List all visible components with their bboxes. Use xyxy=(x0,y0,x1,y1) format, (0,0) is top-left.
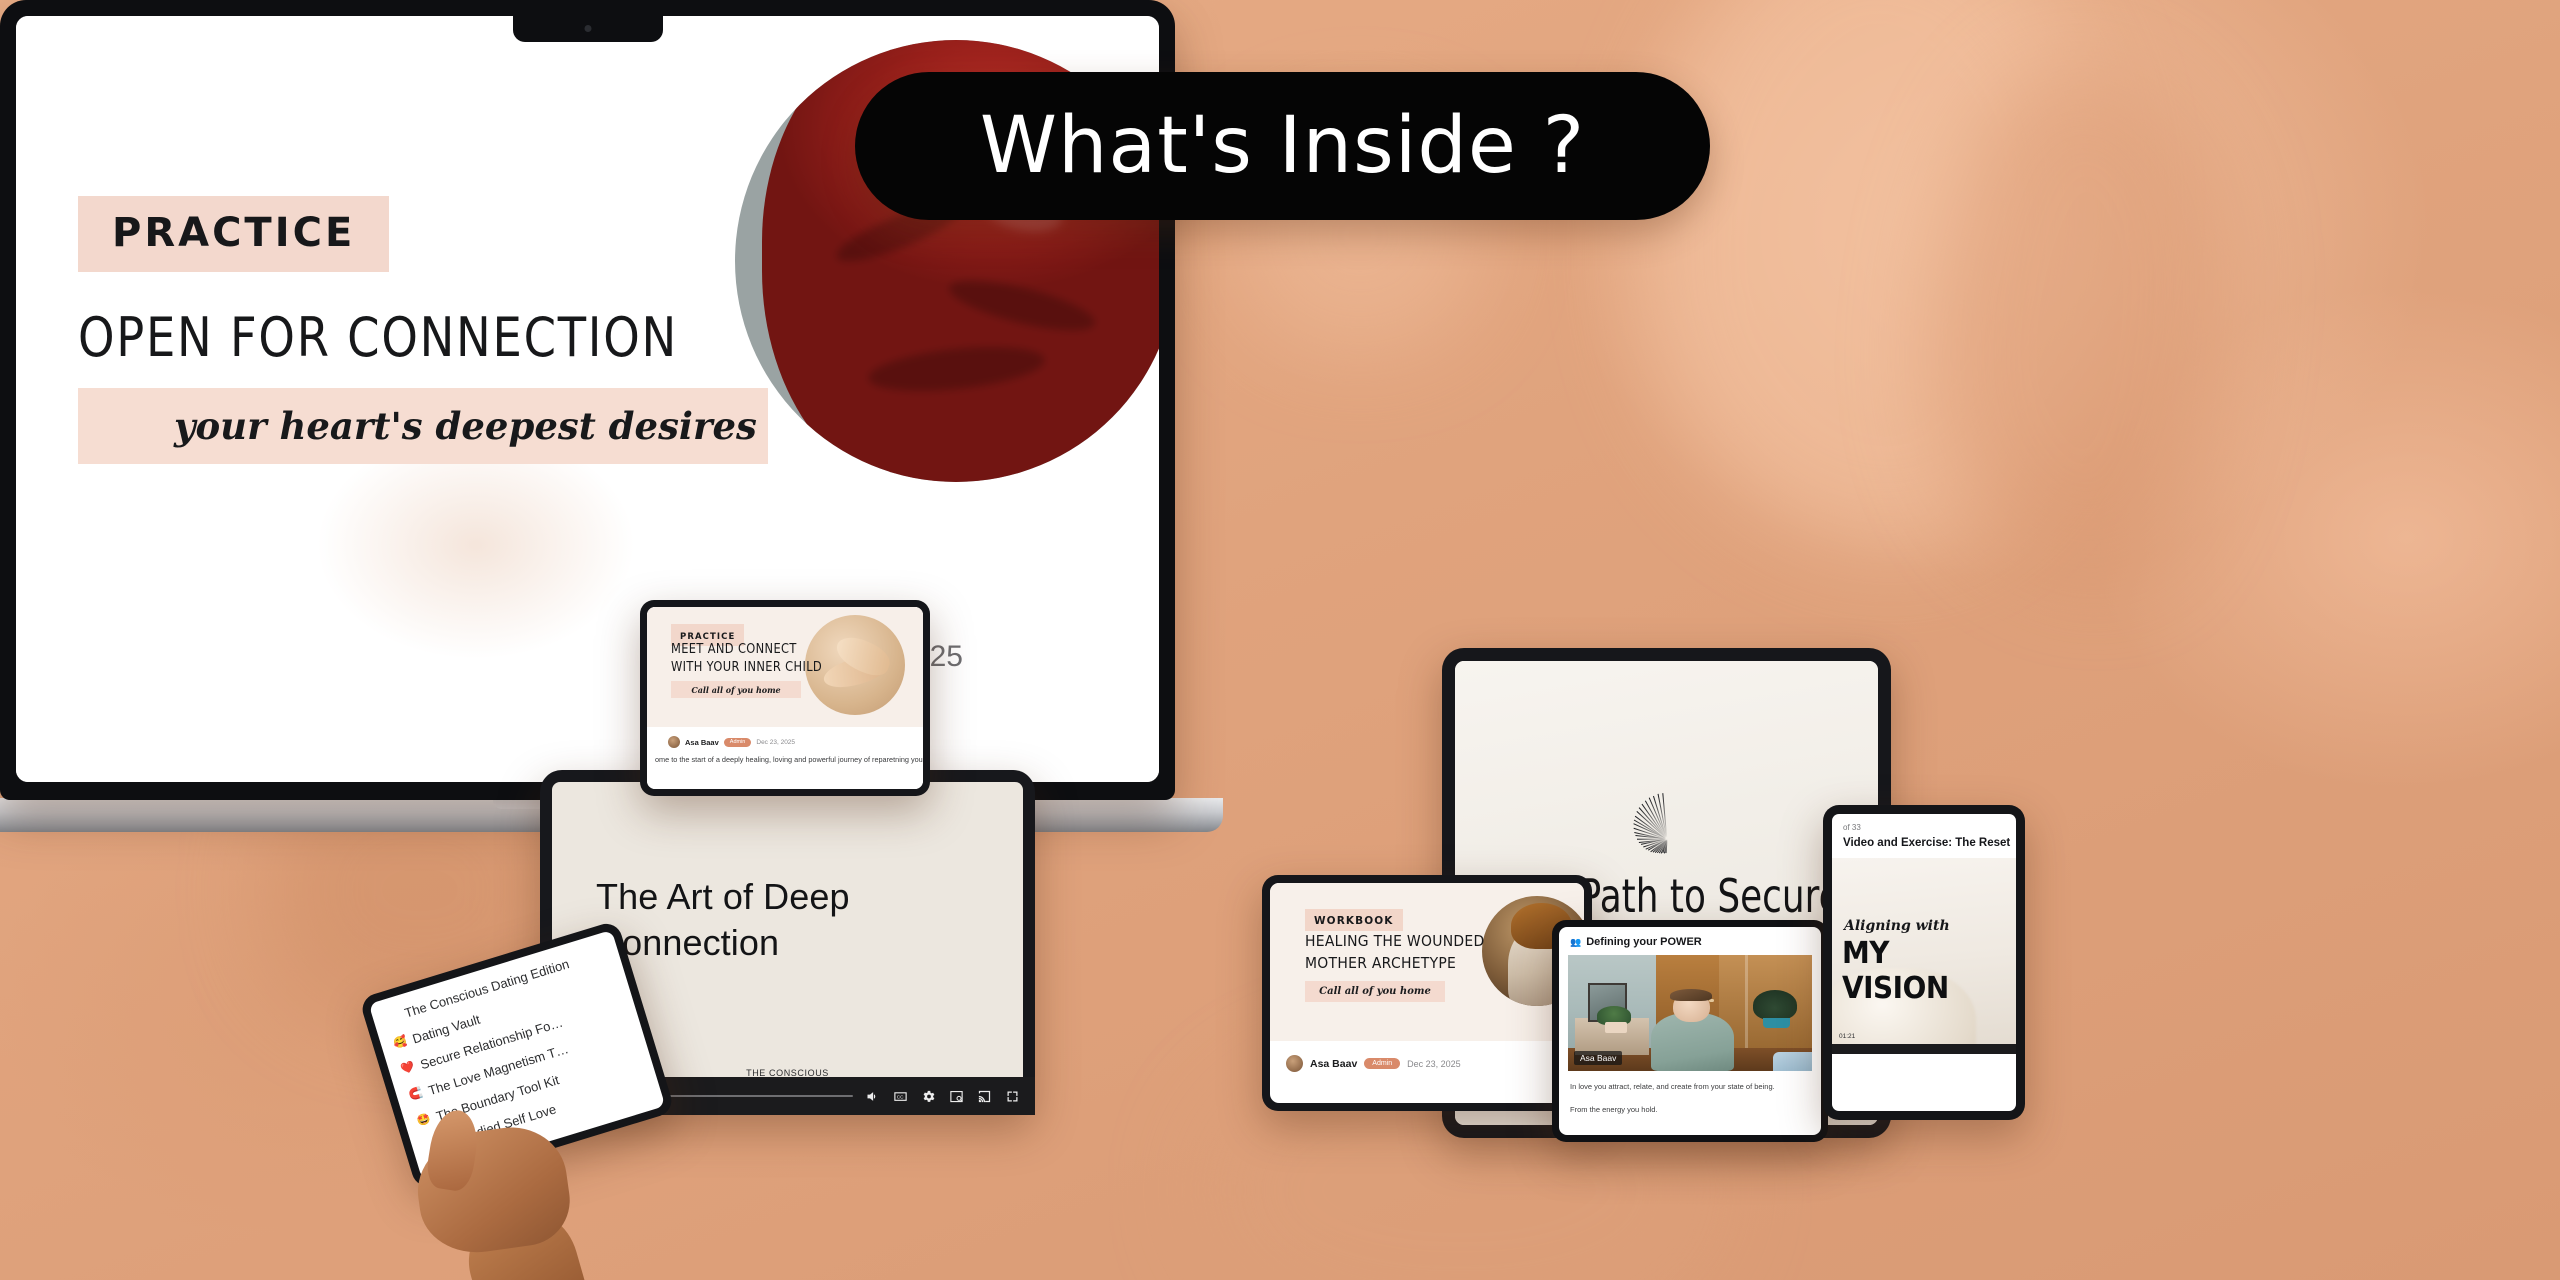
webcam-notch xyxy=(513,16,663,42)
reset-title: Video and Exercise: The Reset xyxy=(1843,837,2016,849)
status-badge: Admin xyxy=(724,738,752,747)
video-timestamp: 01:21 xyxy=(1839,1033,1855,1040)
fern xyxy=(1753,990,1797,1020)
speaker-hair xyxy=(1670,989,1711,1002)
lesson-body-line1: In love you attract, relate, and create … xyxy=(1559,1071,1821,1094)
sunburst-icon xyxy=(1624,789,1710,839)
tablet-workbook-post: WORKBOOK HEALING THE WOUNDED MOTHER ARCH… xyxy=(1262,875,1592,1111)
reset-header: of 33 Video and Exercise: The Reset xyxy=(1832,814,2016,849)
cast-icon[interactable] xyxy=(976,1089,993,1104)
post-band-label: Call all of you home xyxy=(691,685,780,695)
workbook-hero: WORKBOOK HEALING THE WOUNDED MOTHER ARCH… xyxy=(1270,883,1584,1041)
speaker-name-label: Asa Baav xyxy=(1574,1051,1622,1065)
post-heading-line2: WITH YOUR INNER CHILD xyxy=(671,660,822,675)
slide-subheading: your heart's deepest desires xyxy=(78,404,757,448)
fullscreen-icon[interactable] xyxy=(1004,1089,1021,1104)
workbook-tag: WORKBOOK xyxy=(1305,909,1403,931)
webcam-icon xyxy=(584,25,591,32)
workbook-meta: Asa Baav Admin Dec 23, 2025 xyxy=(1270,1041,1584,1072)
post-date: Dec 23, 2025 xyxy=(756,739,795,746)
list-item-emoji-icon: ❤️ xyxy=(400,1062,416,1076)
slide-watermark xyxy=(316,430,636,660)
status-badge: Admin xyxy=(1364,1058,1400,1069)
post-heading-line1: MEET AND CONNECT xyxy=(671,642,797,657)
settings-gear-icon[interactable] xyxy=(920,1089,937,1104)
reset-screen: of 33 Video and Exercise: The Reset Alig… xyxy=(1832,814,2016,1111)
post-date: Dec 23, 2025 xyxy=(1407,1059,1461,1069)
slide-tag: PRACTICE xyxy=(78,196,389,272)
bed xyxy=(1773,1052,1812,1071)
slide-heading: OPEN FOR CONNECTION xyxy=(78,306,678,369)
list-item-emoji-icon: 🧲 xyxy=(408,1088,424,1102)
reset-video-stage[interactable]: Aligning with MY VISION 01:21 xyxy=(1832,858,2016,1054)
power-screen: 👥 Defining your POWER Asa Baav In love y… xyxy=(1559,927,1821,1135)
inner-child-screen: PRACTICE MEET AND CONNECT WITH YOUR INNE… xyxy=(647,607,923,789)
video-progress-bar[interactable] xyxy=(1832,1044,2016,1054)
svg-text:CC: CC xyxy=(897,1094,904,1099)
author-name: Asa Baav xyxy=(685,738,719,747)
post-hero: PRACTICE MEET AND CONNECT WITH YOUR INNE… xyxy=(647,607,923,727)
miniplayer-icon[interactable] xyxy=(948,1089,965,1104)
post-tag-label: PRACTICE xyxy=(680,632,735,642)
workbook-screen: WORKBOOK HEALING THE WOUNDED MOTHER ARCH… xyxy=(1270,883,1584,1103)
slide-counter: of 33 xyxy=(1843,823,2016,832)
reset-script-line: Aligning with xyxy=(1844,918,1950,934)
lesson-body-line2: From the energy you hold. xyxy=(1559,1094,1821,1117)
video-watermark: THE CONSCIOUS xyxy=(746,1068,829,1078)
list-item-emoji-icon xyxy=(386,1015,398,1019)
post-body-text: ome to the start of a deeply healing, lo… xyxy=(647,752,923,766)
slide-subheading-band: your heart's deepest desires xyxy=(78,388,768,464)
slide-date-fragment: 25 xyxy=(930,640,963,674)
slide-tag-label: PRACTICE xyxy=(112,210,355,256)
workbook-band-label: Call all of you home xyxy=(1319,986,1431,997)
art-title: The Art of Deep Connection xyxy=(596,874,1023,966)
fern-pot xyxy=(1763,1018,1790,1028)
people-icon: 👥 xyxy=(1570,937,1581,948)
plant-pot xyxy=(1605,1022,1627,1032)
workbook-heading-line1: HEALING THE WOUNDED xyxy=(1305,932,1485,950)
tablet-video-exercise-reset: of 33 Video and Exercise: The Reset Alig… xyxy=(1823,805,2025,1120)
workbook-tag-label: WORKBOOK xyxy=(1314,915,1394,927)
page-title: What's Inside ? xyxy=(980,101,1585,191)
workbook-heading-line2: MOTHER ARCHETYPE xyxy=(1305,954,1456,972)
tablet-inner-child-post: PRACTICE MEET AND CONNECT WITH YOUR INNE… xyxy=(640,600,930,796)
tablet-defining-your-power: 👥 Defining your POWER Asa Baav In love y… xyxy=(1552,920,1828,1142)
page-title-pill: What's Inside ? xyxy=(855,72,1710,220)
list-item-emoji-icon: 🥰 xyxy=(392,1036,408,1050)
post-card: PRACTICE MEET AND CONNECT WITH YOUR INNE… xyxy=(647,607,923,789)
post-band: Call all of you home xyxy=(671,681,801,698)
reset-headline: MY VISION xyxy=(1842,936,2004,1006)
lesson-header: 👥 Defining your POWER xyxy=(1559,927,1821,955)
workbook-band: Call all of you home xyxy=(1305,981,1445,1002)
author-name: Asa Baav xyxy=(1310,1058,1357,1070)
captions-icon[interactable]: CC xyxy=(892,1089,909,1104)
avatar xyxy=(668,736,680,748)
hand-holding-tablet xyxy=(400,1118,635,1280)
lesson-title: Defining your POWER xyxy=(1586,936,1702,948)
lesson-video[interactable]: Asa Baav xyxy=(1568,955,1812,1071)
post-meta: Asa Baav Admin Dec 23, 2025 xyxy=(647,727,923,752)
avatar xyxy=(1286,1055,1303,1072)
volume-icon[interactable] xyxy=(864,1089,881,1104)
